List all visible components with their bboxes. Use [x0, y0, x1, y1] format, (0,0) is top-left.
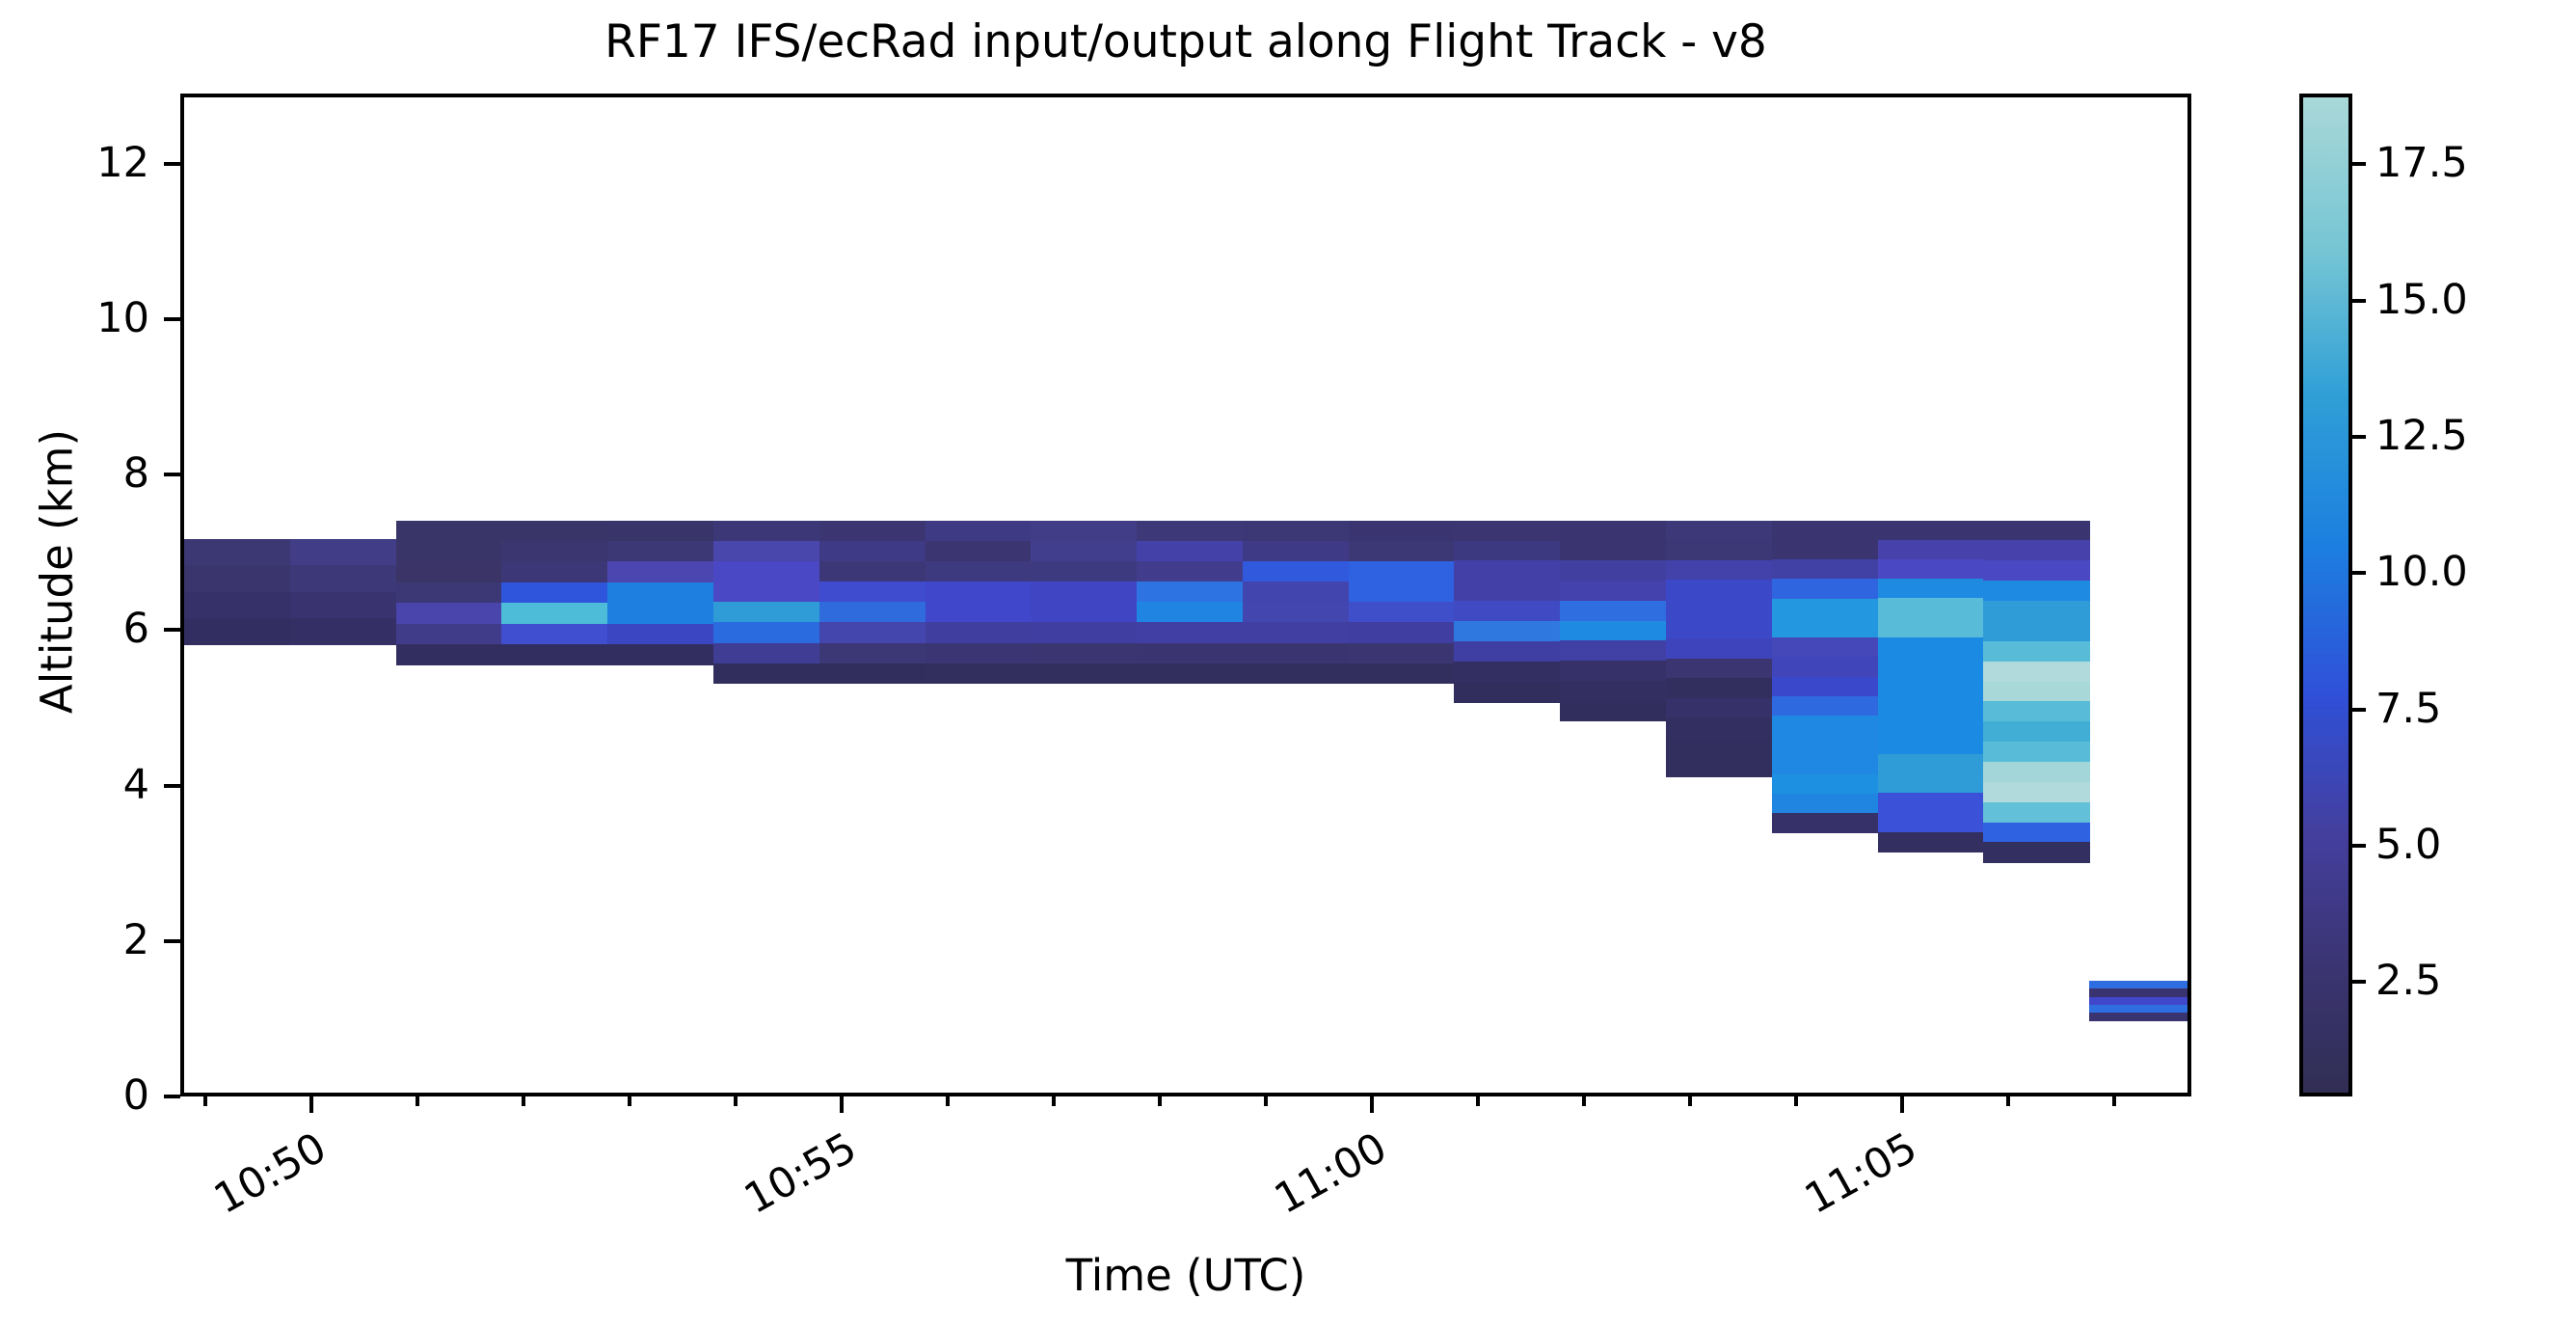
- heatmap-cell: [2089, 1013, 2191, 1021]
- x-axis-minor-tick: [1688, 1096, 1692, 1106]
- heatmap-cell: [713, 521, 819, 542]
- heatmap-cell: [1454, 662, 1560, 683]
- heatmap-cell: [607, 521, 713, 542]
- heatmap-cell: [1349, 561, 1455, 582]
- heatmap-cell: [1137, 541, 1243, 562]
- heatmap-cell: [1666, 599, 1772, 619]
- y-axis-tick-mark: [164, 473, 180, 476]
- heatmap-cell: [1772, 599, 1878, 619]
- heatmap-cell: [926, 663, 1032, 685]
- x-axis-minor-tick: [734, 1096, 738, 1106]
- heatmap-cell: [501, 561, 607, 582]
- heatmap-cell: [1454, 560, 1560, 582]
- heatmap-plot-area[interactable]: [180, 94, 2191, 1096]
- heatmap-cell: [1983, 581, 2089, 601]
- heatmap-cell: [1772, 696, 1878, 717]
- heatmap-cell: [926, 602, 1032, 623]
- heatmap-cell: [1878, 754, 1984, 774]
- heatmap-cell: [819, 663, 926, 685]
- heatmap-cell: [713, 622, 819, 643]
- heatmap-cell: [1772, 677, 1878, 697]
- heatmap-cell: [713, 602, 819, 623]
- heatmap-cell: [1983, 560, 2089, 581]
- heatmap-cell: [1560, 701, 1666, 721]
- heatmap-cell: [1983, 601, 2089, 621]
- heatmap-cell: [1031, 663, 1137, 685]
- heatmap-cell: [1983, 721, 2089, 742]
- colorbar-tick-mark: [2352, 571, 2366, 575]
- heatmap-cell: [1772, 559, 1878, 580]
- heatmap-cell: [1666, 757, 1772, 777]
- heatmap-cell: [396, 541, 502, 562]
- heatmap-cell: [1031, 561, 1137, 582]
- heatmap-cell: [1983, 802, 2089, 823]
- heatmap-cell: [1666, 738, 1772, 758]
- heatmap-cell: [501, 521, 607, 542]
- heatmap-cell: [1983, 621, 2089, 641]
- heatmap-cell: [1137, 582, 1243, 603]
- heatmap-cell: [1772, 657, 1878, 677]
- heatmap-cell: [1878, 793, 1984, 813]
- y-axis-tick-label: 12: [96, 143, 149, 184]
- heatmap-cell: [501, 603, 607, 624]
- x-axis-minor-tick: [2006, 1096, 2010, 1106]
- x-axis-tick-mark: [1900, 1096, 1904, 1113]
- heatmap-cell: [607, 624, 713, 645]
- heatmap-cell: [1878, 695, 1984, 716]
- colorbar-tick-mark: [2352, 980, 2366, 984]
- heatmap-cell: [819, 602, 926, 623]
- heatmap-cell: [396, 521, 502, 542]
- colorbar-tick-mark: [2352, 435, 2366, 439]
- heatmap-cell: [1349, 663, 1455, 685]
- heatmap-cell: [1560, 560, 1666, 581]
- heatmap-cell: [1560, 581, 1666, 601]
- heatmap-cell: [1878, 716, 1984, 736]
- heatmap-cell: [1454, 682, 1560, 703]
- heatmap-cell: [1983, 641, 2089, 662]
- heatmap-cell: [1772, 813, 1878, 833]
- heatmap-cell: [184, 592, 290, 619]
- heatmap-cell: [290, 539, 396, 566]
- heatmap-cell: [1031, 622, 1137, 643]
- colorbar-tick-label: 15.0: [2375, 280, 2468, 321]
- heatmap-cell: [1243, 561, 1349, 582]
- heatmap-cell: [1243, 663, 1349, 685]
- colorbar-tick-mark: [2352, 162, 2366, 166]
- heatmap-cell: [1560, 540, 1666, 560]
- figure-canvas: RF17 IFS/ecRad input/output along Flight…: [0, 0, 2576, 1326]
- heatmap-cell: [1983, 823, 2089, 843]
- heatmap-cell: [1983, 762, 2089, 782]
- heatmap-cell: [607, 561, 713, 582]
- heatmap-cell: [501, 541, 607, 562]
- heatmap-cell: [819, 622, 926, 643]
- x-axis-minor-tick: [628, 1096, 631, 1106]
- heatmap-cell: [290, 592, 396, 619]
- heatmap-cell: [1878, 676, 1984, 696]
- y-axis-tick-mark: [164, 784, 180, 788]
- heatmap-cell: [1983, 540, 2089, 560]
- heatmap-cell: [1878, 521, 1984, 541]
- heatmap-cell: [1666, 619, 1772, 639]
- colorbar-tick-label: 7.5: [2375, 689, 2441, 730]
- heatmap-cell: [926, 561, 1032, 582]
- heatmap-cell: [1666, 638, 1772, 659]
- heatmap-cell: [1878, 637, 1984, 658]
- heatmap-cell: [1772, 579, 1878, 599]
- y-axis-tick-mark: [164, 628, 180, 632]
- x-axis-tick-label: 10:55: [715, 1124, 864, 1235]
- x-axis-tick-label: 11:00: [1246, 1124, 1394, 1235]
- x-axis-tick-mark: [1370, 1096, 1374, 1113]
- x-axis-minor-tick: [416, 1096, 419, 1106]
- heatmap-cell: [1137, 561, 1243, 582]
- y-axis-tick-mark: [164, 162, 180, 166]
- colorbar-tick-mark: [2352, 299, 2366, 303]
- heatmap-cell: [1031, 643, 1137, 664]
- heatmap-cell: [396, 582, 502, 604]
- heatmap-cell: [1772, 618, 1878, 638]
- heatmap-cell: [1878, 657, 1984, 677]
- heatmap-cell: [1772, 755, 1878, 775]
- heatmap-cell: [1983, 682, 2089, 702]
- heatmap-cell: [1454, 541, 1560, 562]
- heatmap-cell: [290, 618, 396, 645]
- x-axis-minor-tick: [1582, 1096, 1586, 1106]
- heatmap-cell: [1772, 521, 1878, 541]
- heatmap-cell: [1666, 580, 1772, 600]
- heatmap-cell: [1243, 521, 1349, 542]
- heatmap-cell: [1983, 742, 2089, 762]
- heatmap-cell: [1137, 602, 1243, 623]
- heatmap-cell: [1983, 842, 2089, 862]
- x-axis-minor-tick: [1158, 1096, 1162, 1106]
- heatmap-cell: [184, 539, 290, 566]
- colorbar-tick-label: 10.0: [2375, 552, 2468, 593]
- x-axis-tick-mark: [840, 1096, 844, 1113]
- heatmap-cell: [926, 541, 1032, 562]
- x-axis-tick-label: 11:05: [1776, 1124, 1924, 1235]
- heatmap-cell: [1137, 663, 1243, 685]
- heatmap-cell: [1983, 662, 2089, 682]
- heatmap-cell: [1772, 716, 1878, 736]
- heatmap-cell: [926, 521, 1032, 542]
- heatmap-cell: [1772, 794, 1878, 814]
- colorbar-tick-mark: [2352, 844, 2366, 848]
- heatmap-cell: [819, 582, 926, 603]
- heatmap-cell: [1031, 582, 1137, 603]
- heatmap-cell: [607, 541, 713, 562]
- x-axis-minor-tick: [203, 1096, 207, 1106]
- x-axis-minor-tick: [522, 1096, 525, 1106]
- colorbar-tick-label: 12.5: [2375, 416, 2468, 457]
- heatmap-cell: [713, 582, 819, 603]
- colorbar-tick-label: 2.5: [2375, 961, 2441, 1002]
- heatmap-cell: [926, 582, 1032, 603]
- heatmap-cell: [1243, 602, 1349, 623]
- heatmap-cell: [1031, 521, 1137, 542]
- heatmap-cell: [1454, 601, 1560, 622]
- x-axis-minor-tick: [1052, 1096, 1056, 1106]
- heatmap-cell: [1878, 559, 1984, 580]
- heatmap-cell: [1878, 598, 1984, 618]
- x-axis-tick-label: 10:50: [185, 1124, 334, 1235]
- heatmap-cell: [1983, 782, 2089, 802]
- heatmap-cell: [713, 561, 819, 582]
- heatmap-cell: [1560, 601, 1666, 621]
- heatmap-cell: [1454, 521, 1560, 542]
- heatmap-cell: [1454, 641, 1560, 663]
- y-axis-tick-mark: [164, 1095, 180, 1098]
- heatmap-cell: [1666, 521, 1772, 541]
- heatmap-cell: [1560, 621, 1666, 641]
- heatmap-cell: [819, 521, 926, 542]
- y-axis-tick-mark: [164, 939, 180, 943]
- heatmap-cells: [184, 97, 2187, 1093]
- y-axis-tick-label: 10: [96, 298, 149, 339]
- heatmap-cell: [184, 618, 290, 645]
- colorbar-gradient: [2303, 97, 2348, 1093]
- x-axis-minor-tick: [946, 1096, 950, 1106]
- heatmap-cell: [819, 643, 926, 664]
- page-title: RF17 IFS/ecRad input/output along Flight…: [180, 15, 2191, 69]
- heatmap-cell: [1560, 661, 1666, 681]
- heatmap-cell: [1243, 643, 1349, 664]
- heatmap-cell: [1772, 774, 1878, 795]
- heatmap-cell: [501, 582, 607, 604]
- heatmap-cell: [1349, 541, 1455, 562]
- x-axis-tick-mark: [309, 1096, 313, 1113]
- colorbar[interactable]: [2299, 94, 2352, 1096]
- heatmap-cell: [1666, 659, 1772, 679]
- heatmap-cell: [1454, 581, 1560, 602]
- heatmap-cell: [1560, 521, 1666, 541]
- y-axis-tick-label: 6: [123, 609, 149, 650]
- x-axis-minor-tick: [2112, 1096, 2116, 1106]
- heatmap-cell: [1560, 640, 1666, 661]
- heatmap-cell: [1666, 560, 1772, 581]
- heatmap-cell: [713, 663, 819, 685]
- heatmap-cell: [1137, 521, 1243, 542]
- heatmap-cell: [1983, 521, 2089, 541]
- heatmap-cell: [1349, 602, 1455, 623]
- heatmap-cell: [501, 644, 607, 665]
- heatmap-cell: [607, 644, 713, 665]
- heatmap-cell: [1031, 541, 1137, 562]
- heatmap-cell: [1349, 622, 1455, 643]
- heatmap-cell: [819, 561, 926, 582]
- heatmap-cell: [819, 541, 926, 562]
- heatmap-cell: [1137, 643, 1243, 664]
- y-axis-label: Altitude (km): [36, 321, 79, 823]
- heatmap-cell: [1243, 622, 1349, 643]
- heatmap-cell: [396, 624, 502, 645]
- heatmap-cell: [926, 643, 1032, 664]
- heatmap-cell: [1878, 540, 1984, 560]
- heatmap-cell: [713, 541, 819, 562]
- heatmap-cell: [1772, 637, 1878, 658]
- heatmap-cell: [1137, 622, 1243, 643]
- heatmap-cell: [1772, 540, 1878, 560]
- heatmap-cell: [184, 565, 290, 592]
- y-axis-tick-label: 8: [123, 453, 149, 495]
- heatmap-cell: [501, 624, 607, 645]
- y-axis-tick-label: 4: [123, 765, 149, 806]
- heatmap-cell: [396, 603, 502, 624]
- heatmap-cell: [1243, 541, 1349, 562]
- heatmap-cell: [1772, 735, 1878, 755]
- heatmap-cell: [1878, 735, 1984, 755]
- heatmap-cell: [926, 622, 1032, 643]
- heatmap-cell: [1666, 540, 1772, 560]
- heatmap-cell: [1878, 773, 1984, 794]
- y-axis-tick-label: 2: [123, 920, 149, 961]
- heatmap-cell: [1349, 643, 1455, 664]
- heatmap-cell: [1560, 681, 1666, 701]
- x-axis-label: Time (UTC): [180, 1254, 2191, 1297]
- y-axis-tick-mark: [164, 317, 180, 321]
- heatmap-cell: [713, 643, 819, 664]
- heatmap-cell: [1878, 813, 1984, 833]
- x-axis-minor-tick: [1794, 1096, 1798, 1106]
- heatmap-cell: [1031, 602, 1137, 623]
- y-axis-tick-label: 0: [123, 1075, 149, 1117]
- heatmap-cell: [396, 644, 502, 665]
- heatmap-cell: [1983, 701, 2089, 721]
- colorbar-tick-mark: [2352, 708, 2366, 712]
- heatmap-cell: [1666, 678, 1772, 698]
- heatmap-cell: [1878, 832, 1984, 852]
- heatmap-cell: [1878, 579, 1984, 599]
- colorbar-tick-label: 17.5: [2375, 143, 2468, 184]
- heatmap-cell: [607, 582, 713, 604]
- heatmap-cell: [607, 603, 713, 624]
- heatmap-cell: [1454, 621, 1560, 642]
- heatmap-cell: [1349, 521, 1455, 542]
- heatmap-cell: [1878, 618, 1984, 638]
- heatmap-cell: [1666, 698, 1772, 718]
- heatmap-cell: [1243, 582, 1349, 603]
- colorbar-tick-label: 5.0: [2375, 825, 2441, 866]
- heatmap-cell: [1666, 717, 1772, 738]
- heatmap-cell: [1349, 582, 1455, 603]
- x-axis-minor-tick: [1476, 1096, 1480, 1106]
- heatmap-cell: [396, 561, 502, 582]
- x-axis-minor-tick: [1264, 1096, 1268, 1106]
- heatmap-cell: [290, 565, 396, 592]
